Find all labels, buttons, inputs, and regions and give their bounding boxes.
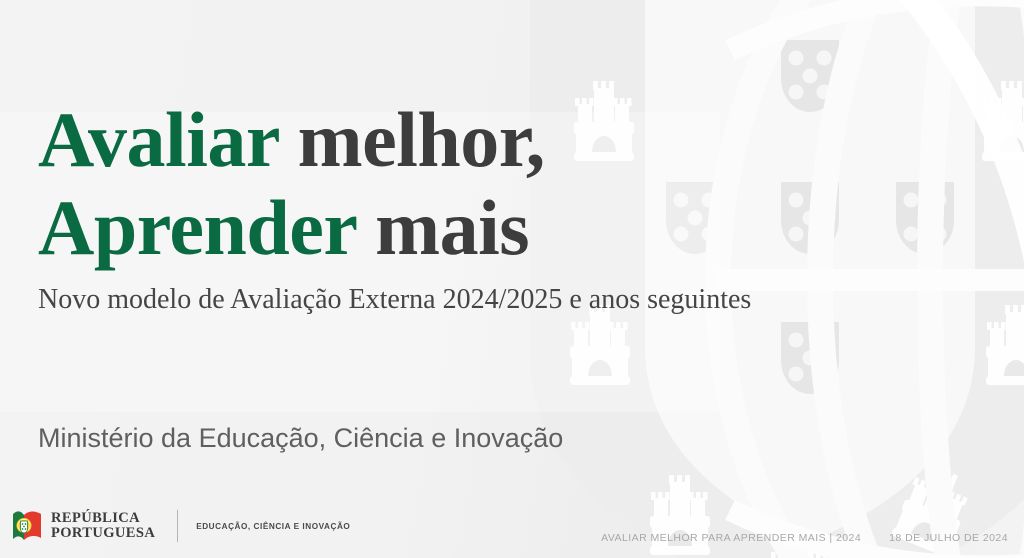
- republic-line-1: REPÚBLICA: [51, 511, 155, 527]
- footer-event-label: AVALIAR MELHOR PARA APRENDER MAIS | 2024: [601, 532, 861, 544]
- republica-portuguesa-logo: REPÚBLICA PORTUGUESA EDUCAÇÃO, CIÊNCIA E…: [12, 506, 350, 546]
- title-rest-1: melhor,: [279, 96, 545, 183]
- page-title: Avaliar melhor, Aprender mais: [38, 96, 545, 272]
- slide-content: Avaliar melhor, Aprender mais Novo model…: [38, 0, 898, 558]
- republic-line-2: PORTUGUESA: [51, 526, 155, 542]
- logo-divider: [177, 510, 178, 542]
- page-subtitle: Novo modelo de Avaliação Externa 2024/20…: [38, 283, 751, 317]
- department-label: EDUCAÇÃO, CIÊNCIA E INOVAÇÃO: [196, 522, 350, 531]
- republica-portuguesa-wordmark: REPÚBLICA PORTUGUESA: [51, 511, 155, 542]
- title-accent-2: Aprender: [38, 184, 356, 271]
- title-accent-1: Avaliar: [38, 96, 279, 183]
- title-rest-2: mais: [356, 184, 529, 271]
- portugal-flag-shield-icon: [12, 509, 42, 543]
- footer-meta: AVALIAR MELHOR PARA APRENDER MAIS | 2024…: [601, 532, 1008, 544]
- footer-date-label: 18 DE JULHO DE 2024: [889, 532, 1008, 544]
- presentation-slide: Avaliar melhor, Aprender mais Novo model…: [0, 0, 1024, 558]
- ministry-label: Ministério da Educação, Ciência e Inovaç…: [38, 422, 563, 454]
- title-line-2: Aprender mais: [38, 184, 545, 272]
- title-line-1: Avaliar melhor,: [38, 96, 545, 184]
